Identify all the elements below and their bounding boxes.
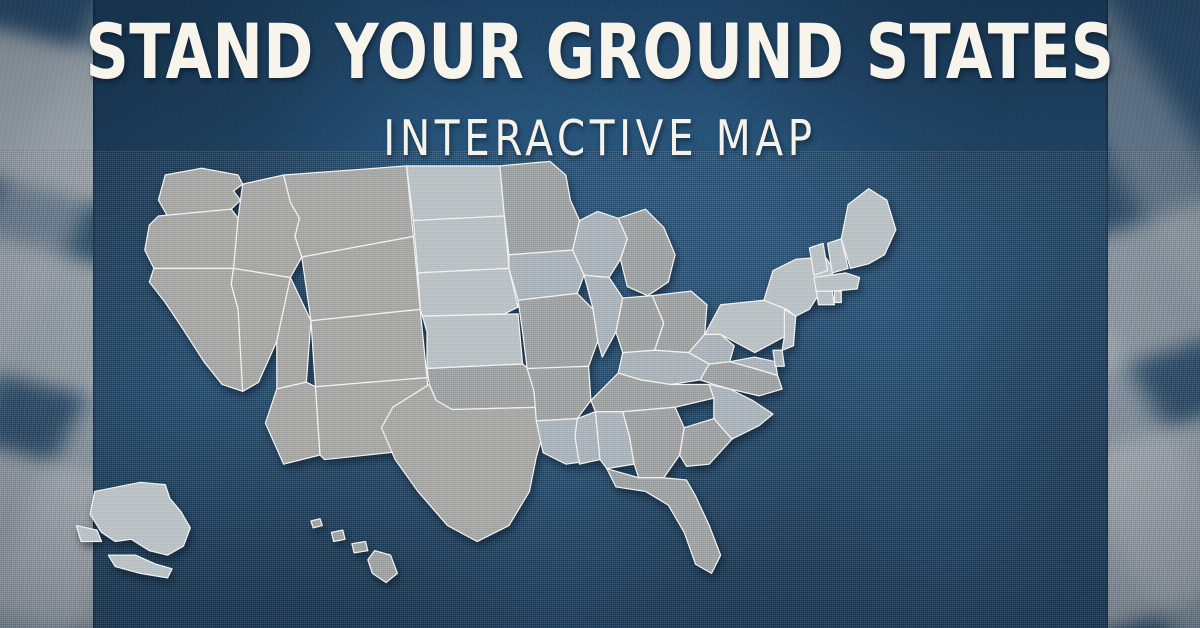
state-ak-part3[interactable] [108,555,172,578]
state-ga[interactable] [623,407,684,478]
us-states-svg[interactable] [0,150,1200,628]
state-ks[interactable] [422,314,522,369]
us-map-container[interactable] [0,150,1200,628]
state-mn[interactable] [500,161,580,254]
state-ne[interactable] [418,268,518,316]
state-co[interactable] [311,309,427,386]
state-mi[interactable] [618,209,675,295]
title-block: STAND YOUR GROUND STATES INTERACTIVE MAP [0,14,1200,163]
page-subtitle: INTERACTIVE MAP [48,114,1152,163]
state-sd[interactable] [413,216,509,273]
state-hi-part2[interactable] [331,530,345,541]
stand-your-ground-states-hero-card: STAND YOUR GROUND STATES INTERACTIVE MAP [0,0,1200,628]
state-mo[interactable] [518,293,598,370]
state-ct[interactable] [816,291,834,305]
state-de[interactable] [773,350,784,366]
state-ok[interactable] [427,364,541,410]
state-hi[interactable] [311,519,322,528]
state-ri[interactable] [834,291,841,302]
state-ar[interactable] [527,366,591,421]
state-or[interactable] [145,209,243,268]
state-nd[interactable] [407,166,505,221]
state-az[interactable] [265,382,320,464]
state-me[interactable] [841,189,896,269]
state-ia[interactable] [509,250,584,300]
state-ak-part2[interactable] [76,526,101,542]
state-hi-part4[interactable] [368,551,398,583]
state-nj[interactable] [782,309,796,350]
state-fl[interactable] [607,469,721,574]
state-ak[interactable] [90,482,190,555]
page-title: STAND YOUR GROUND STATES [72,14,1128,90]
state-hi-part3[interactable] [352,542,368,553]
